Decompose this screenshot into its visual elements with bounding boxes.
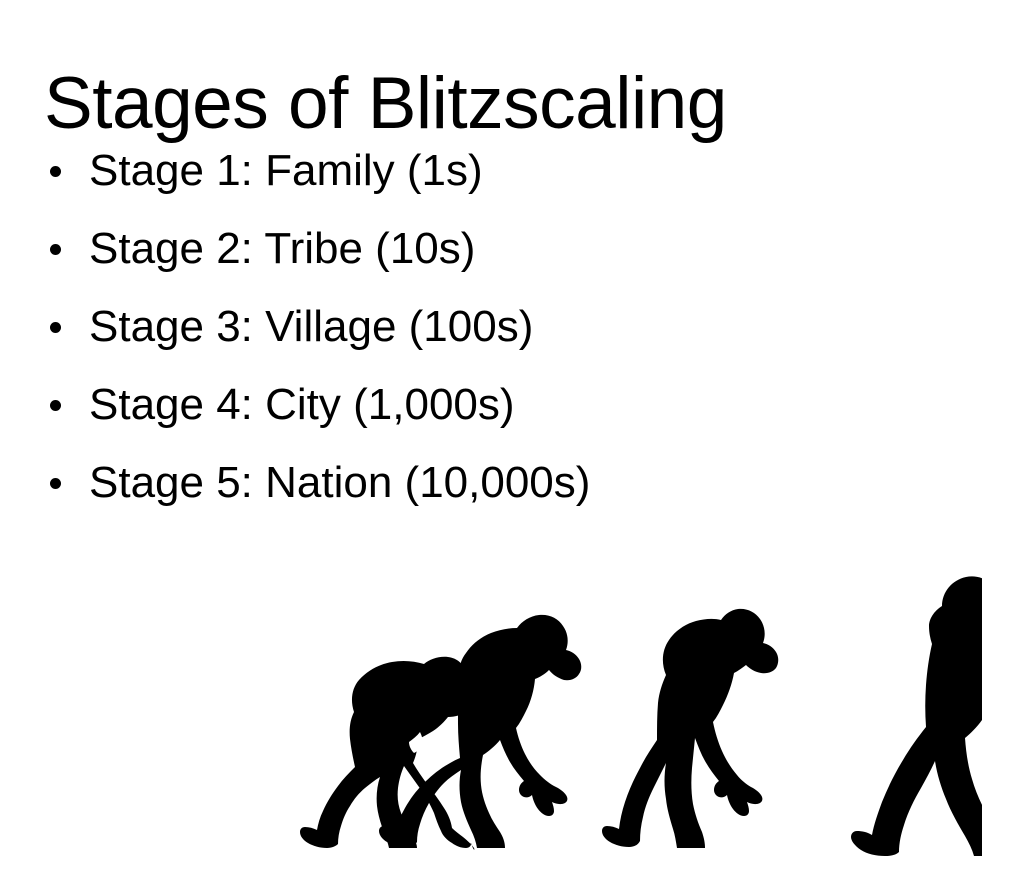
page-title: Stages of Blitzscaling [44,67,964,140]
list-item: Stage 3: Village (100s) [44,288,944,366]
walking-human-reading-book-silhouette [851,576,982,856]
upright-walking-hominid-silhouette [602,609,778,848]
list-item-label: Stage 2: Tribe (10s) [89,210,475,288]
bullet-dot-icon [50,400,61,411]
list-item-label: Stage 5: Nation (10,000s) [89,444,590,522]
bullet-dot-icon [50,244,61,255]
list-item: Stage 4: City (1,000s) [44,366,944,444]
list-item-label: Stage 3: Village (100s) [89,288,533,366]
list-item: Stage 2: Tribe (10s) [44,210,944,288]
list-item-label: Stage 4: City (1,000s) [89,366,515,444]
list-item: Stage 5: Nation (10,000s) [44,444,944,522]
evolution-of-man-illustration [258,558,982,856]
bullet-dot-icon [50,166,61,177]
bullet-dot-icon [50,478,61,489]
bullet-list: Stage 1: Family (1s) Stage 2: Tribe (10s… [44,132,944,522]
list-item: Stage 1: Family (1s) [44,132,944,210]
presentation-slide: Stages of Blitzscaling Stage 1: Family (… [0,0,1012,870]
list-item-label: Stage 1: Family (1s) [89,132,483,210]
bullet-dot-icon [50,322,61,333]
